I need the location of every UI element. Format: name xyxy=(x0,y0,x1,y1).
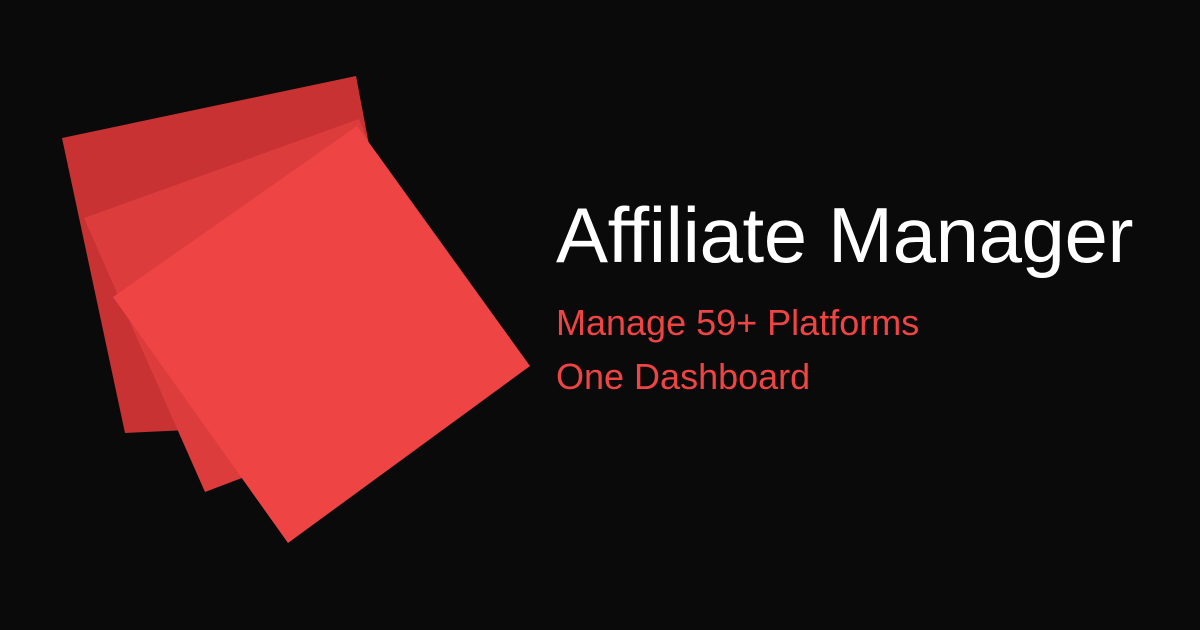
page-title: Affiliate Manager xyxy=(556,196,1156,274)
subtitle-line-dashboard: One Dashboard xyxy=(556,350,1156,404)
og-image-canvas: Affiliate Manager Manage 59+ Platforms O… xyxy=(0,0,1200,630)
hero-text-block: Affiliate Manager Manage 59+ Platforms O… xyxy=(556,196,1156,404)
stacked-cards-graphic xyxy=(0,0,620,630)
hero-subtitle: Manage 59+ Platforms One Dashboard xyxy=(556,274,1156,404)
subtitle-line-platforms: Manage 59+ Platforms xyxy=(556,296,1156,350)
